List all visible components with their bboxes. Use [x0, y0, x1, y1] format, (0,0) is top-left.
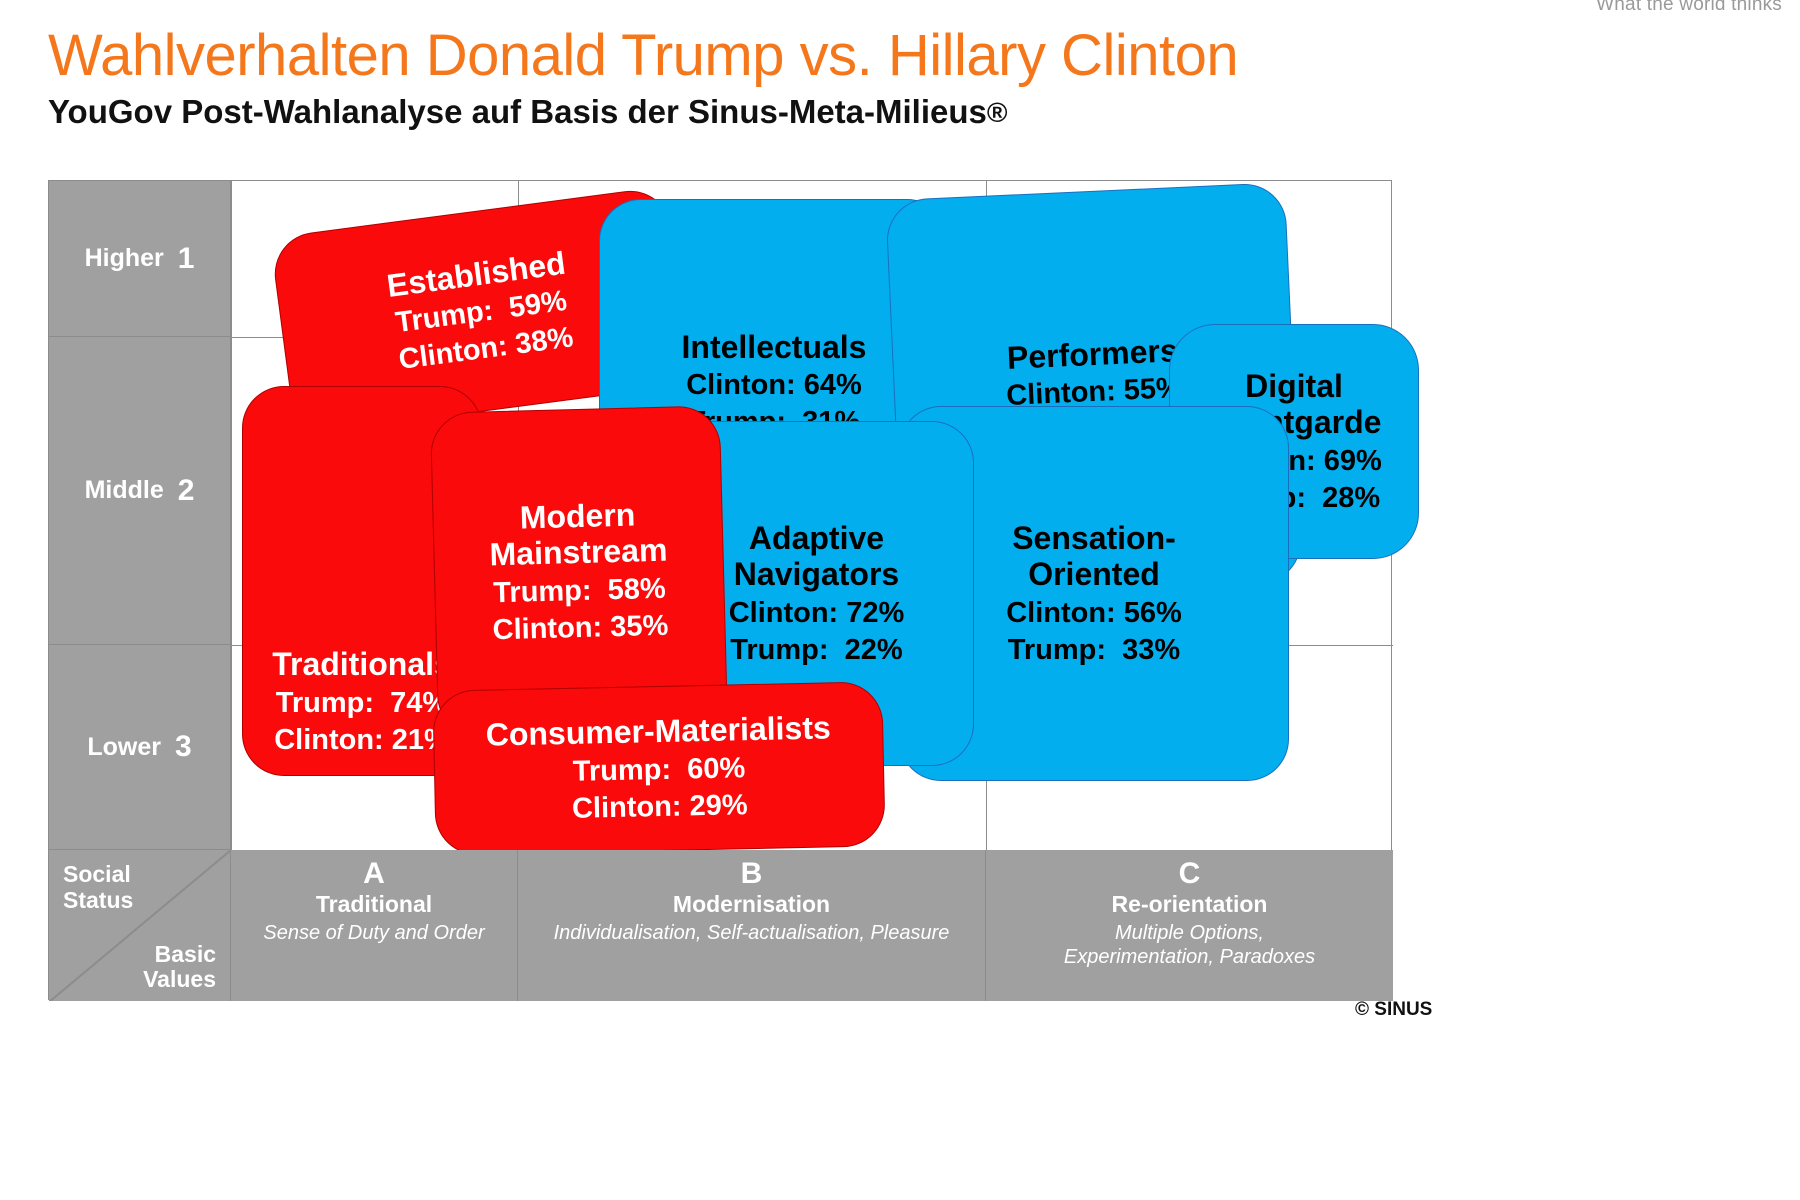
status-row-lower-num: 3: [175, 730, 192, 764]
axis-col-c-desc: Multiple Options,Experimentation, Parado…: [986, 921, 1393, 970]
axis-col-b: B Modernisation Individualisation, Self-…: [518, 850, 986, 1001]
axis-label-social-status: SocialStatus: [63, 862, 133, 914]
milieu-modern-mainstream-name-line2: Mainstream: [489, 532, 668, 573]
milieu-adaptive-navigators-name-line2: Navigators: [734, 556, 899, 592]
milieu-digital-avantgarde-name-line1: Digital: [1245, 368, 1343, 404]
axis-col-a: A Traditional Sense of Duty and Order: [231, 850, 518, 1001]
sinus-milieu-matrix: Higher 1 Middle 2 Lower 3 Established Tr…: [48, 180, 1392, 1000]
status-row-higher: Higher 1: [49, 181, 231, 337]
axis-corner: SocialStatus BasicValues: [49, 850, 231, 1001]
page-title: Wahlverhalten Donald Trump vs. Hillary C…: [48, 22, 1238, 89]
milieu-modern-mainstream-trump: Trump: 58%: [493, 573, 666, 611]
axis-col-a-name: Traditional: [231, 891, 517, 919]
milieu-sensation-oriented-clinton: Clinton: 56%: [1006, 597, 1182, 630]
milieu-adaptive-navigators-name: Adaptive Navigators: [734, 520, 899, 593]
basic-values-axis: SocialStatus BasicValues A Traditional S…: [49, 850, 1393, 1001]
milieu-adaptive-navigators-name-line1: Adaptive: [749, 520, 884, 556]
milieu-modern-mainstream-name-line1: Modern: [519, 496, 635, 535]
axis-col-b-letter: B: [518, 856, 985, 891]
milieu-sensation-oriented-trump: Trump: 33%: [1008, 634, 1180, 667]
milieu-intellectuals-clinton: Clinton: 64%: [686, 369, 862, 402]
milieu-performers-name: Performers: [1006, 332, 1178, 376]
milieu-traditionals-name: Traditionals: [272, 646, 452, 682]
copyright-notice: © SINUS: [1355, 999, 1432, 1021]
milieu-consumer-materialists-name: Consumer-Materialists: [485, 710, 831, 754]
status-row-middle-num: 2: [178, 474, 195, 508]
axis-col-a-desc: Sense of Duty and Order: [231, 921, 517, 945]
milieu-sensation-oriented-name-line1: Sensation-: [1012, 520, 1176, 556]
milieu-sensation-oriented-name-line2: Oriented: [1028, 556, 1160, 592]
status-row-higher-label: Higher: [85, 244, 164, 273]
milieu-intellectuals-name: Intellectuals: [682, 329, 867, 365]
status-row-middle-label: Middle: [85, 476, 164, 505]
axis-col-b-desc: Individualisation, Self-actualisation, P…: [518, 921, 985, 945]
axis-col-c-letter: C: [986, 856, 1393, 891]
milieu-sensation-oriented-name: Sensation- Oriented: [1012, 520, 1176, 593]
milieu-traditionals-trump: Trump: 74%: [276, 687, 448, 720]
milieu-consumer-materialists[interactable]: Consumer-Materialists Trump: 60% Clinton…: [432, 681, 885, 855]
registered-mark: ®: [987, 97, 1008, 128]
status-row-middle: Middle 2: [49, 337, 231, 645]
milieu-modern-mainstream-clinton: Clinton: 35%: [492, 610, 668, 648]
status-row-higher-num: 1: [178, 242, 195, 276]
milieu-traditionals-clinton: Clinton: 21%: [274, 724, 450, 757]
page-subtitle: YouGov Post-Wahlanalyse auf Basis der Si…: [48, 93, 1008, 131]
axis-col-c-name: Re-orientation: [986, 891, 1393, 919]
milieu-adaptive-navigators-trump: Trump: 22%: [730, 634, 902, 667]
milieu-consumer-materialists-trump: Trump: 60%: [572, 752, 745, 789]
milieu-consumer-materialists-clinton: Clinton: 29%: [572, 789, 748, 826]
milieu-modern-mainstream-name: Modern Mainstream: [488, 496, 668, 574]
brand-tagline: What the world thinks: [1596, 0, 1782, 16]
status-row-lower: Lower 3: [49, 645, 231, 850]
page-subtitle-text: YouGov Post-Wahlanalyse auf Basis der Si…: [48, 93, 987, 130]
status-row-lower-label: Lower: [87, 733, 161, 762]
axis-label-basic-values: BasicValues: [143, 942, 216, 994]
axis-col-a-letter: A: [231, 856, 517, 891]
axis-col-b-name: Modernisation: [518, 891, 985, 919]
axis-col-c: C Re-orientation Multiple Options,Experi…: [986, 850, 1393, 1001]
grid-vline-1: [231, 181, 232, 850]
slide-canvas: What the world thinks Wahlverhalten Dona…: [0, 0, 1800, 1200]
milieu-adaptive-navigators-clinton: Clinton: 72%: [729, 597, 905, 630]
